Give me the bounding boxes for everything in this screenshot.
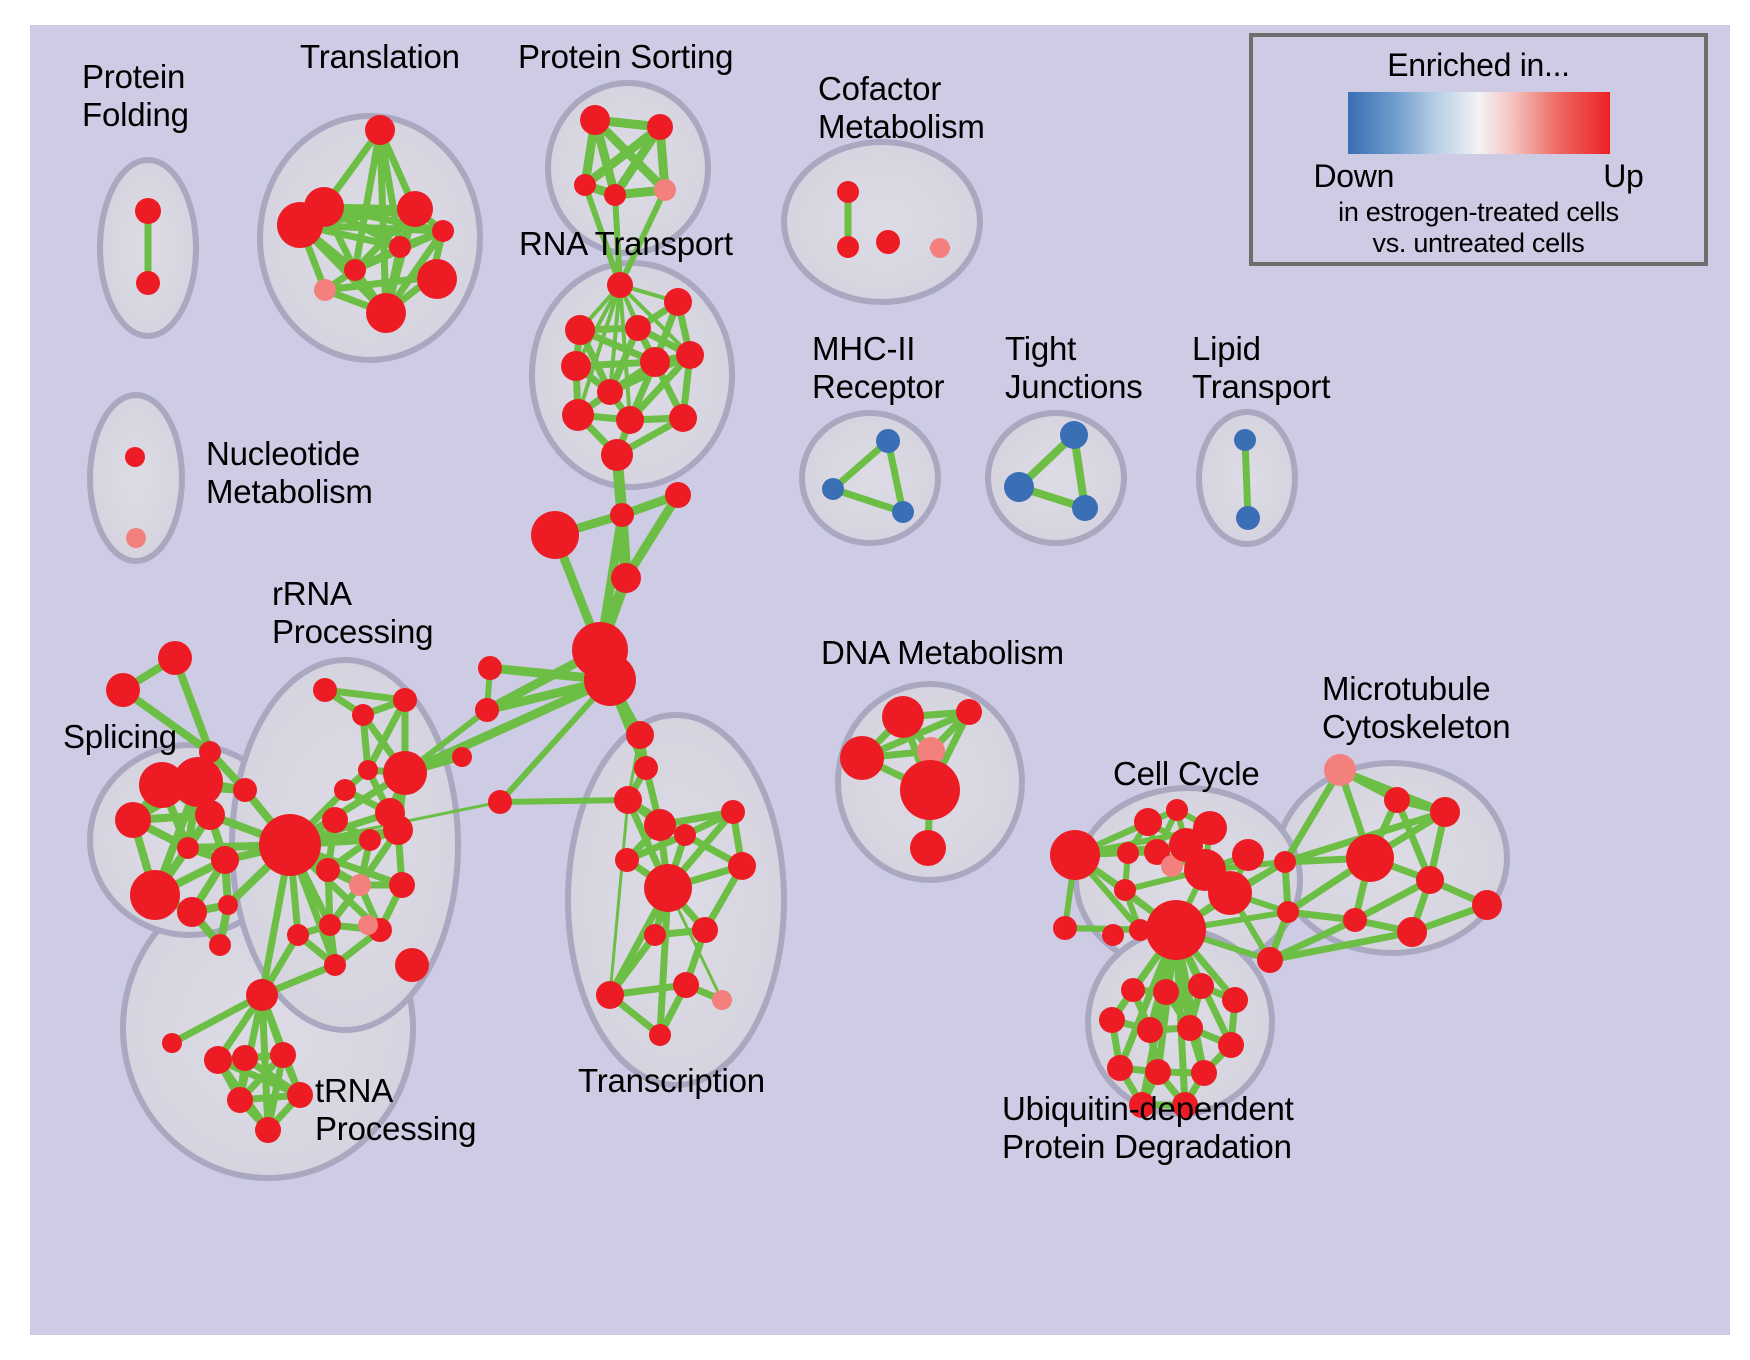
- node-down[interactable]: [1072, 495, 1098, 521]
- node-up[interactable]: [604, 184, 626, 206]
- node-up[interactable]: [601, 439, 633, 471]
- node-up[interactable]: [580, 105, 610, 135]
- node-up[interactable]: [313, 678, 337, 702]
- node-up[interactable]: [287, 1082, 313, 1108]
- label-protein-folding: Protein Folding: [82, 58, 189, 134]
- node-up[interactable]: [669, 404, 697, 432]
- node-up[interactable]: [334, 779, 356, 801]
- node-up[interactable]: [1145, 1059, 1171, 1085]
- node-up[interactable]: [227, 1087, 253, 1113]
- node-up[interactable]: [1188, 973, 1214, 999]
- node-up[interactable]: [674, 824, 696, 846]
- node-up[interactable]: [1134, 808, 1162, 836]
- node-up[interactable]: [232, 1045, 258, 1071]
- node-up[interactable]: [1121, 978, 1145, 1002]
- node-up[interactable]: [1277, 901, 1299, 923]
- node-up[interactable]: [1208, 871, 1252, 915]
- node-up[interactable]: [673, 972, 699, 998]
- node-up[interactable]: [475, 698, 499, 722]
- node-up[interactable]: [611, 563, 641, 593]
- label-translation: Translation: [300, 38, 460, 76]
- edge: [405, 680, 610, 773]
- legend-high-label: Up: [1603, 158, 1643, 195]
- node-up[interactable]: [395, 948, 429, 982]
- node-up[interactable]: [344, 259, 366, 281]
- node-up[interactable]: [359, 829, 381, 851]
- node-up[interactable]: [1137, 1017, 1163, 1043]
- node-up[interactable]: [1416, 866, 1444, 894]
- legend-low-label: Down: [1314, 158, 1395, 195]
- node-up[interactable]: [158, 641, 192, 675]
- node-up[interactable]: [644, 864, 692, 912]
- node-up[interactable]: [173, 757, 223, 807]
- node-up[interactable]: [1257, 947, 1283, 973]
- node-up[interactable]: [452, 747, 472, 767]
- node-up[interactable]: [177, 897, 207, 927]
- node-up[interactable]: [115, 802, 151, 838]
- node-down[interactable]: [876, 429, 900, 453]
- node-up[interactable]: [365, 115, 395, 145]
- node-up[interactable]: [233, 778, 257, 802]
- node-down[interactable]: [1004, 472, 1034, 502]
- node-up-faded[interactable]: [349, 874, 371, 896]
- node-up-faded[interactable]: [314, 279, 336, 301]
- node-up[interactable]: [366, 293, 406, 333]
- node-up[interactable]: [616, 406, 644, 434]
- label-cofactor-metabolism: Cofactor Metabolism: [818, 70, 985, 146]
- node-up[interactable]: [162, 1033, 182, 1053]
- node-up[interactable]: [255, 1117, 281, 1143]
- node-up[interactable]: [136, 271, 160, 295]
- node-up[interactable]: [1053, 916, 1077, 940]
- hull-mhc-ii-receptor: [802, 413, 938, 543]
- node-up[interactable]: [1218, 1032, 1244, 1058]
- node-up[interactable]: [649, 1024, 671, 1046]
- node-up[interactable]: [634, 756, 658, 780]
- node-up[interactable]: [1114, 879, 1136, 901]
- node-up[interactable]: [644, 809, 676, 841]
- node-up[interactable]: [562, 399, 594, 431]
- node-up[interactable]: [1107, 1055, 1133, 1081]
- node-up[interactable]: [1191, 1060, 1217, 1086]
- node-up[interactable]: [383, 815, 413, 845]
- node-down[interactable]: [1236, 506, 1260, 530]
- node-up[interactable]: [1430, 797, 1460, 827]
- node-up[interactable]: [607, 272, 633, 298]
- node-up[interactable]: [837, 181, 859, 203]
- node-up[interactable]: [1346, 834, 1394, 882]
- node-up[interactable]: [432, 220, 454, 242]
- node-up[interactable]: [692, 917, 718, 943]
- node-up[interactable]: [125, 447, 145, 467]
- node-up[interactable]: [728, 852, 756, 880]
- hull-cofactor-metabolism: [784, 142, 980, 302]
- node-up[interactable]: [647, 114, 673, 140]
- node-up[interactable]: [218, 895, 238, 915]
- node-up[interactable]: [417, 259, 457, 299]
- node-up[interactable]: [876, 230, 900, 254]
- node-up[interactable]: [1397, 917, 1427, 947]
- edge: [500, 800, 628, 802]
- node-up[interactable]: [135, 198, 161, 224]
- legend-subtitle-line2: vs. untreated cells: [1373, 228, 1585, 259]
- legend-title: Enriched in...: [1387, 47, 1570, 84]
- node-up-faded[interactable]: [358, 915, 378, 935]
- node-up[interactable]: [1146, 900, 1206, 960]
- node-up[interactable]: [640, 347, 670, 377]
- node-up[interactable]: [488, 790, 512, 814]
- node-up[interactable]: [1099, 1007, 1125, 1033]
- label-transcription: Transcription: [578, 1062, 765, 1100]
- node-up[interactable]: [625, 315, 651, 341]
- node-up[interactable]: [1166, 799, 1188, 821]
- node-up[interactable]: [106, 673, 140, 707]
- node-up[interactable]: [531, 511, 579, 559]
- node-up[interactable]: [393, 688, 417, 712]
- node-up-faded[interactable]: [712, 990, 732, 1010]
- node-up[interactable]: [910, 830, 946, 866]
- legend-color-scale: [1348, 92, 1610, 154]
- node-down[interactable]: [822, 478, 844, 500]
- node-up[interactable]: [270, 1042, 296, 1068]
- node-up[interactable]: [211, 846, 239, 874]
- node-up[interactable]: [195, 800, 225, 830]
- node-up[interactable]: [1153, 979, 1179, 1005]
- node-up[interactable]: [596, 981, 624, 1009]
- node-up[interactable]: [177, 837, 199, 859]
- legend-panel: Enriched in... Down Up in estrogen-treat…: [1249, 33, 1708, 266]
- node-up[interactable]: [389, 872, 415, 898]
- node-up[interactable]: [956, 699, 982, 725]
- node-up[interactable]: [259, 814, 321, 876]
- node-up[interactable]: [397, 191, 433, 227]
- legend-endpoint-labels: Down Up: [1314, 158, 1644, 195]
- node-up[interactable]: [322, 807, 348, 833]
- node-up[interactable]: [574, 174, 596, 196]
- node-up[interactable]: [130, 870, 180, 920]
- node-down[interactable]: [892, 501, 914, 523]
- node-up[interactable]: [324, 954, 346, 976]
- node-up[interactable]: [352, 704, 374, 726]
- node-up[interactable]: [1232, 839, 1264, 871]
- node-up[interactable]: [837, 236, 859, 258]
- node-up[interactable]: [882, 696, 924, 738]
- label-trna-processing: tRNA Processing: [315, 1072, 476, 1148]
- label-tight-junctions: Tight Junctions: [1005, 330, 1143, 406]
- node-up[interactable]: [1222, 987, 1248, 1013]
- node-up[interactable]: [1050, 830, 1100, 880]
- node-down[interactable]: [1234, 429, 1256, 451]
- node-up[interactable]: [383, 751, 427, 795]
- node-up[interactable]: [584, 654, 636, 706]
- enrichment-network-figure: Protein Folding Translation Protein Sort…: [0, 0, 1750, 1360]
- node-up[interactable]: [287, 924, 309, 946]
- node-down[interactable]: [1060, 421, 1088, 449]
- node-up[interactable]: [319, 914, 341, 936]
- node-up[interactable]: [664, 288, 692, 316]
- label-lipid-transport: Lipid Transport: [1192, 330, 1330, 406]
- node-up[interactable]: [1193, 811, 1227, 845]
- node-up[interactable]: [204, 1046, 232, 1074]
- label-cell-cycle: Cell Cycle: [1113, 755, 1260, 793]
- node-up[interactable]: [1274, 851, 1296, 873]
- label-protein-sorting: Protein Sorting: [518, 38, 733, 76]
- node-up[interactable]: [1384, 787, 1410, 813]
- label-rna-transport: RNA Transport: [519, 225, 733, 263]
- label-splicing: Splicing: [63, 718, 177, 756]
- node-up[interactable]: [209, 934, 231, 956]
- node-up[interactable]: [246, 979, 278, 1011]
- node-up[interactable]: [665, 482, 691, 508]
- node-up[interactable]: [389, 236, 411, 258]
- node-up[interactable]: [626, 721, 654, 749]
- node-up[interactable]: [597, 379, 623, 405]
- node-up-faded[interactable]: [1324, 754, 1356, 786]
- node-up[interactable]: [277, 202, 323, 248]
- node-up[interactable]: [561, 351, 591, 381]
- node-up[interactable]: [1102, 924, 1124, 946]
- node-up[interactable]: [358, 760, 378, 780]
- node-up[interactable]: [676, 341, 704, 369]
- node-up[interactable]: [644, 924, 666, 946]
- node-up-faded[interactable]: [126, 528, 146, 548]
- node-up[interactable]: [1343, 908, 1367, 932]
- node-up[interactable]: [1472, 890, 1502, 920]
- node-up-faded[interactable]: [930, 238, 950, 258]
- label-mhc-ii-receptor: MHC-II Receptor: [812, 330, 944, 406]
- node-up[interactable]: [721, 800, 745, 824]
- node-up[interactable]: [1117, 842, 1139, 864]
- node-up[interactable]: [1177, 1015, 1203, 1041]
- node-up[interactable]: [316, 858, 340, 882]
- label-dna-metabolism: DNA Metabolism: [821, 634, 1064, 672]
- label-nucleotide-metabolism: Nucleotide Metabolism: [206, 435, 373, 511]
- node-up[interactable]: [614, 786, 642, 814]
- legend-subtitle-line1: in estrogen-treated cells: [1338, 197, 1619, 228]
- node-up[interactable]: [565, 315, 595, 345]
- node-up[interactable]: [840, 736, 884, 780]
- node-up[interactable]: [900, 760, 960, 820]
- label-ubiquitin-degradation: Ubiquitin-dependent Protein Degradation: [1002, 1090, 1294, 1166]
- node-up[interactable]: [478, 656, 502, 680]
- node-up[interactable]: [610, 503, 634, 527]
- node-up-faded[interactable]: [654, 179, 676, 201]
- label-rrna-processing: rRNA Processing: [272, 575, 433, 651]
- label-microtubule-cytoskeleton: Microtubule Cytoskeleton: [1322, 670, 1510, 746]
- node-up[interactable]: [615, 848, 639, 872]
